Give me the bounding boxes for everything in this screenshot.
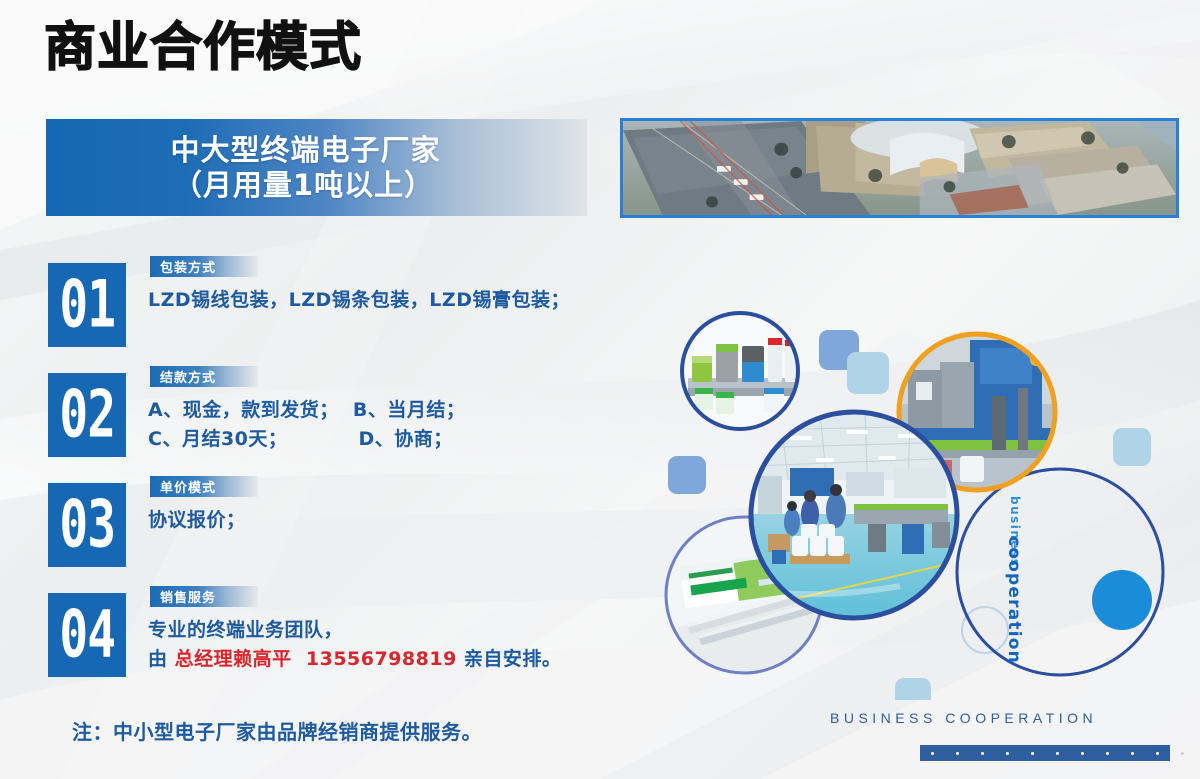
contact-name: 总经理赖高平 bbox=[175, 648, 292, 670]
item-tag-03: 单价模式 bbox=[150, 476, 258, 497]
item-number: 02 bbox=[59, 378, 115, 453]
bottom-dot-bar bbox=[920, 745, 1200, 761]
dot-bar-blue-segment bbox=[920, 745, 1170, 761]
banner-line-2: （月用量1吨以上） bbox=[173, 168, 434, 202]
list-item: 01 包装方式 LZD锡线包装，LZD锡条包装，LZD锡膏包装； bbox=[48, 256, 648, 366]
footnote: 注：中小型电子厂家由品牌经销商提供服务。 bbox=[72, 716, 482, 745]
item-body-04: 专业的终端业务团队，由 总经理赖高平 13556798819 亲自安排。 bbox=[148, 616, 561, 675]
vertical-text-cooperation: cooperation bbox=[1004, 536, 1024, 664]
list-item: 03 单价模式 协议报价； bbox=[48, 476, 648, 586]
solid-blue-dot bbox=[1092, 570, 1152, 630]
item-tag-04: 销售服务 bbox=[150, 586, 258, 607]
business-cooperation-caption: BUSINESS COOPERATION bbox=[830, 710, 1097, 726]
products-circle bbox=[682, 313, 798, 429]
item-number: 01 bbox=[59, 268, 115, 343]
item-body-03: 协议报价； bbox=[148, 506, 246, 535]
list-item: 02 结款方式 A、现金，款到发货； B、当月结；C、月结30天； D、协商； bbox=[48, 366, 648, 476]
dot bbox=[931, 752, 934, 755]
dot bbox=[1156, 752, 1159, 755]
dot bbox=[981, 752, 984, 755]
item-number: 04 bbox=[59, 598, 115, 673]
item-badge-01: 01 bbox=[48, 263, 126, 347]
item-body-line-a: 专业的终端业务团队， bbox=[148, 619, 343, 641]
list-item: 04 销售服务 专业的终端业务团队，由 总经理赖高平 13556798819 亲… bbox=[48, 586, 648, 696]
vertical-cooperation-text: business cooperation bbox=[998, 496, 1022, 636]
workshop-circle bbox=[751, 412, 957, 618]
deco-square-blue-2 bbox=[668, 456, 706, 494]
deco-square-cyan-1 bbox=[847, 352, 889, 394]
dot bbox=[1081, 752, 1084, 755]
item-body-line-a: A、现金，款到发货； B、当月结； bbox=[148, 399, 465, 421]
item-badge-04: 04 bbox=[48, 593, 126, 677]
headline-banner: 中大型终端电子厂家 （月用量1吨以上） bbox=[46, 119, 587, 216]
item-body-line-b: C、月结30天； D、协商； bbox=[148, 428, 453, 450]
item-tag-01: 包装方式 bbox=[150, 256, 258, 277]
numbered-list: 01 包装方式 LZD锡线包装，LZD锡条包装，LZD锡膏包装； 02 结款方式… bbox=[48, 256, 648, 696]
banner-line-1: 中大型终端电子厂家 bbox=[170, 133, 440, 167]
deco-square-cyan-2 bbox=[1113, 428, 1151, 466]
aerial-campus-photo bbox=[620, 118, 1179, 218]
dot bbox=[1131, 752, 1134, 755]
cooperation-graphic bbox=[640, 300, 1200, 700]
item-body-01: LZD锡线包装，LZD锡条包装，LZD锡膏包装； bbox=[148, 286, 570, 315]
dot bbox=[1181, 752, 1184, 755]
dot bbox=[1006, 752, 1009, 755]
dot-bar-grey-segment bbox=[1170, 745, 1200, 761]
item-badge-03: 03 bbox=[48, 483, 126, 567]
page-title: 商业合作模式 bbox=[44, 22, 362, 74]
contact-suffix: 亲自安排。 bbox=[457, 648, 562, 670]
item-number: 03 bbox=[59, 488, 115, 563]
item-tag-02: 结款方式 bbox=[150, 366, 258, 387]
deco-square-cyan-3 bbox=[895, 678, 931, 700]
dot bbox=[1106, 752, 1109, 755]
contact-prefix: 由 bbox=[148, 648, 175, 670]
contact-phone[interactable]: 13556798819 bbox=[306, 648, 457, 670]
dot bbox=[1056, 752, 1059, 755]
dot bbox=[956, 752, 959, 755]
poster-canvas: 商业合作模式 中大型终端电子厂家 （月用量1吨以上） bbox=[0, 0, 1200, 779]
dot bbox=[1031, 752, 1034, 755]
item-body-02: A、现金，款到发货； B、当月结；C、月结30天； D、协商； bbox=[148, 396, 465, 455]
item-badge-02: 02 bbox=[48, 373, 126, 457]
